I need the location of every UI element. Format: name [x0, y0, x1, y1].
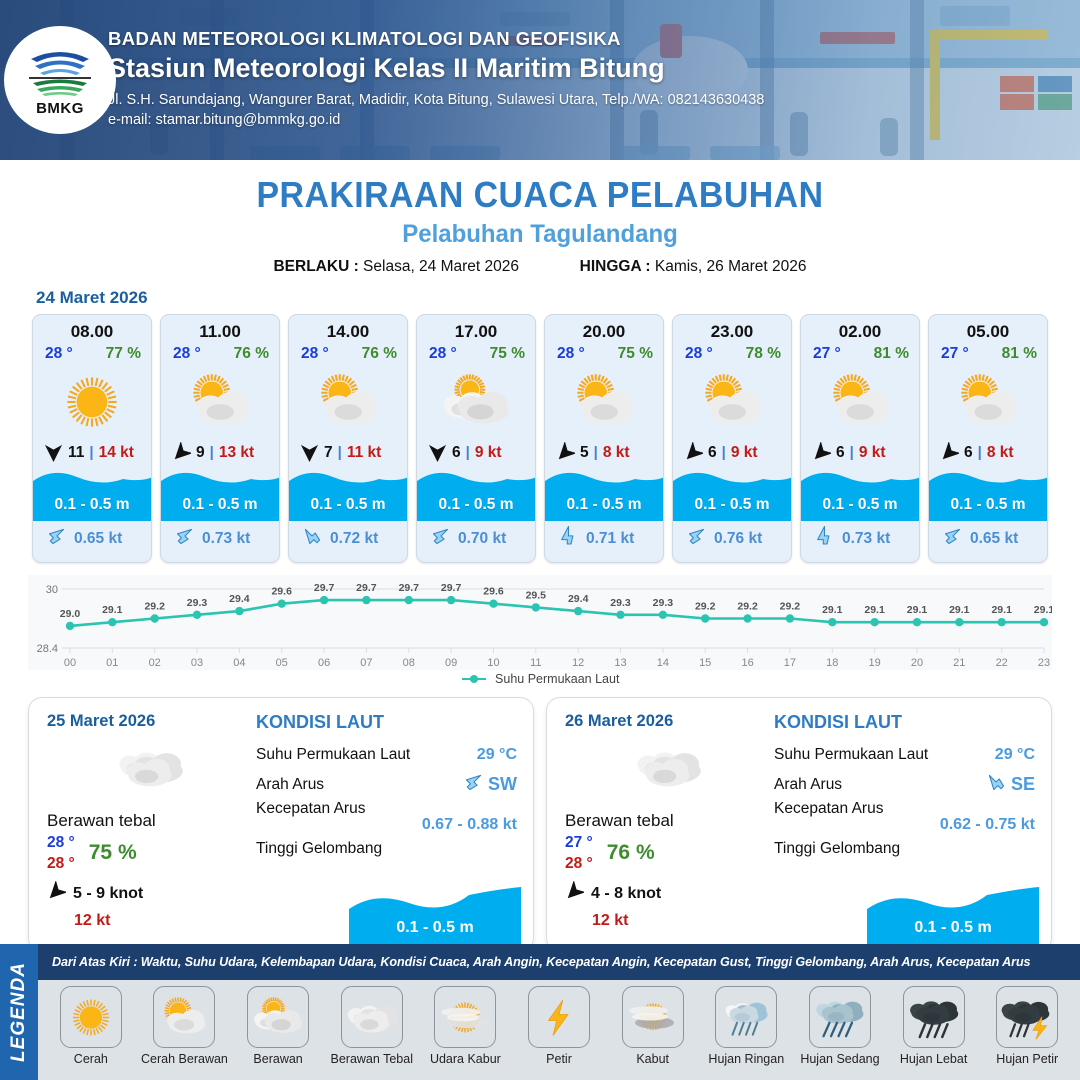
- chart-legend-swatch: [461, 673, 487, 687]
- legend-icon-box: [341, 986, 403, 1048]
- sst-row: Suhu Permukaan Laut 29 °C: [774, 740, 1035, 770]
- wave-height-band: 0.1 - 0.5 m: [33, 465, 151, 521]
- wind-direction-arrow-ne: [565, 881, 584, 902]
- legend-icon-box: [153, 986, 215, 1048]
- wave-height-band: 0.1 - 0.5 m: [289, 465, 407, 521]
- wind-speed: 6: [708, 444, 717, 462]
- wave-height-band: 0.1 - 0.5 m: [545, 465, 663, 521]
- wind-speed: 7: [324, 444, 333, 462]
- svg-text:00: 00: [64, 657, 76, 669]
- bmkg-logo-mark: [23, 43, 97, 99]
- legend-icon-box: [247, 986, 309, 1048]
- sst-label: Suhu Permukaan Laut: [774, 746, 928, 764]
- air-temperature: 28 °: [45, 345, 73, 363]
- legend-icon-box: [903, 986, 965, 1048]
- wind-separator: |: [978, 444, 982, 461]
- humidity: 75 %: [618, 345, 653, 363]
- svg-text:29.6: 29.6: [483, 586, 504, 598]
- humidity: 76 %: [234, 345, 269, 363]
- weather-condition-icon: [289, 364, 407, 440]
- current-dir-value-group: SW: [462, 771, 517, 799]
- wind-separator: |: [850, 444, 854, 461]
- wind-speed: 5: [580, 444, 589, 462]
- forecast-card: 02.00 27 ° 81 % 6 | 9 kt 0.1 - 0.5 m: [800, 314, 920, 563]
- current-row: 0.73 kt: [161, 521, 279, 562]
- svg-text:29.4: 29.4: [568, 593, 589, 605]
- panel-humidity: 75 %: [89, 841, 137, 865]
- panel-weather-icon: [47, 737, 252, 799]
- legend-body: Dari Atas Kiri : Waktu, Suhu Udara, Kele…: [38, 944, 1080, 1080]
- panel-wind-direction: [565, 881, 584, 907]
- forecast-time: 14.00: [289, 315, 407, 342]
- current-row: 0.71 kt: [545, 521, 663, 562]
- sea-condition-title: KONDISI LAUT: [256, 712, 517, 733]
- legend-item-label: Petir: [546, 1052, 572, 1066]
- air-temperature: 28 °: [685, 345, 713, 363]
- current-direction: [173, 525, 196, 553]
- wind-speed: 6: [452, 444, 461, 462]
- svg-text:29.7: 29.7: [399, 582, 420, 594]
- chart-legend: Suhu Permukaan Laut: [0, 672, 1080, 687]
- legend-strip: LEGENDA Dari Atas Kiri : Waktu, Suhu Uda…: [0, 944, 1080, 1080]
- svg-text:06: 06: [318, 657, 330, 669]
- svg-text:28.4: 28.4: [37, 643, 58, 655]
- panel-wind-range: 4 - 8 knot: [591, 885, 661, 903]
- svg-text:15: 15: [699, 657, 711, 669]
- wind-direction-arrow-down: [44, 442, 63, 463]
- wind-row: 6 | 9 kt: [801, 440, 919, 465]
- panel-temp-max: 28 °: [565, 855, 593, 873]
- weather-icon-berawan: [439, 370, 513, 434]
- svg-text:29.4: 29.4: [229, 593, 250, 605]
- panel-gust: 12 kt: [74, 912, 252, 930]
- weather-icon-cerah-berawan: [311, 370, 385, 434]
- wind-direction-arrow-ne: [940, 442, 959, 463]
- svg-text:10: 10: [487, 657, 499, 669]
- station-address: Jl. S.H. Sarundajang, Wangurer Barat, Ma…: [108, 92, 764, 108]
- svg-text:29.2: 29.2: [144, 601, 165, 613]
- legend-icon-box: [622, 986, 684, 1048]
- weather-condition-icon: [33, 364, 151, 440]
- current-direction-arrow-sw: [173, 525, 196, 548]
- station-email: e-mail: stamar.bitung@bmmkg.go.id: [108, 112, 764, 128]
- bmkg-logo-text: BMKG: [36, 100, 84, 117]
- svg-text:29.1: 29.1: [991, 604, 1012, 616]
- current-speed-value: 0.67 - 0.88 kt: [256, 816, 517, 834]
- forecast-temp-humidity: 28 ° 75 %: [545, 342, 663, 363]
- current-speed-row: Kecepatan Arus 0.67 - 0.88 kt: [256, 800, 517, 834]
- panel-wave-value: 0.1 - 0.5 m: [349, 919, 521, 937]
- current-row: 0.76 kt: [673, 521, 791, 562]
- legend-icon-box: [715, 986, 777, 1048]
- air-temperature: 27 °: [813, 345, 841, 363]
- svg-text:29.2: 29.2: [695, 601, 716, 613]
- weather-icon-hujan-sedang: [813, 994, 867, 1041]
- wind-direction: [811, 442, 831, 463]
- svg-text:29.0: 29.0: [60, 608, 81, 620]
- current-direction: [429, 525, 452, 553]
- legend-icon-box: [528, 986, 590, 1048]
- weather-icon-petir: [532, 994, 586, 1041]
- panel-temps: 27 ° 28 ° 76 %: [565, 834, 770, 873]
- weather-icon-cerah-berawan: [823, 370, 897, 434]
- weather-condition-icon: [417, 364, 535, 440]
- svg-text:09: 09: [445, 657, 457, 669]
- current-direction-arrow-se: [985, 771, 1008, 794]
- forecast-temp-humidity: 27 ° 81 %: [929, 342, 1047, 363]
- wind-direction: [939, 442, 959, 463]
- forecast-time: 17.00: [417, 315, 535, 342]
- svg-text:17: 17: [784, 657, 796, 669]
- wave-height-band: 0.1 - 0.5 m: [673, 465, 791, 521]
- svg-text:02: 02: [149, 657, 161, 669]
- wind-gust: 9 kt: [731, 444, 758, 462]
- svg-text:29.1: 29.1: [864, 604, 885, 616]
- station-name: Stasiun Meteorologi Kelas II Maritim Bit…: [108, 53, 764, 84]
- wind-separator: |: [722, 444, 726, 461]
- humidity: 76 %: [362, 345, 397, 363]
- current-direction: [685, 525, 708, 553]
- current-direction-arrow-se: [301, 525, 324, 548]
- wind-gust: 13 kt: [219, 444, 254, 462]
- legend-item: Berawan: [231, 986, 325, 1066]
- forecast-card: 11.00 28 ° 76 % 9 | 13 kt 0.1 - 0.5 m: [160, 314, 280, 563]
- weather-icon-berawan-tebal: [116, 738, 184, 797]
- wave-height-value: 0.1 - 0.5 m: [929, 496, 1047, 514]
- wind-gust: 8 kt: [987, 444, 1014, 462]
- current-speed: 0.65 kt: [970, 530, 1018, 548]
- legend-items-row: Cerah Cerah Berawan Berawan Berawan: [38, 980, 1080, 1066]
- current-speed-row: Kecepatan Arus 0.62 - 0.75 kt: [774, 800, 1035, 834]
- legend-item: Petir: [512, 986, 606, 1066]
- current-row: 0.65 kt: [929, 521, 1047, 562]
- legend-item: Hujan Petir: [980, 986, 1074, 1066]
- wave-height-value: 0.1 - 0.5 m: [417, 496, 535, 514]
- legend-item-label: Cerah Berawan: [141, 1052, 228, 1066]
- wave-height-band: 0.1 - 0.5 m: [929, 465, 1047, 521]
- current-direction-arrow-down: [557, 525, 580, 548]
- wave-height-band: 0.1 - 0.5 m: [417, 465, 535, 521]
- wave-height-value: 0.1 - 0.5 m: [673, 496, 791, 514]
- forecast-temp-humidity: 28 ° 78 %: [673, 342, 791, 363]
- wind-speed: 6: [964, 444, 973, 462]
- humidity: 77 %: [106, 345, 141, 363]
- sst-row: Suhu Permukaan Laut 29 °C: [256, 740, 517, 770]
- forecast-card: 23.00 28 ° 78 % 6 | 9 kt 0.1 - 0.5 m: [672, 314, 792, 563]
- daily-summary-panels: 25 Maret 2026 Berawan tebal 28 ° 28 ° 75…: [0, 687, 1080, 952]
- legend-item: Kabut: [606, 986, 700, 1066]
- current-dir-label: Arah Arus: [256, 776, 324, 794]
- panel-wave-box: 0.1 - 0.5 m: [867, 885, 1039, 945]
- svg-text:03: 03: [191, 657, 203, 669]
- legend-icon-box: [996, 986, 1058, 1048]
- current-direction-arrow-down: [813, 525, 836, 548]
- current-speed: 0.65 kt: [74, 530, 122, 548]
- wind-gust: 8 kt: [603, 444, 630, 462]
- page-subtitle: Pelabuhan Tagulandang: [22, 220, 1059, 249]
- wind-row: 9 | 13 kt: [161, 440, 279, 465]
- current-speed: 0.73 kt: [842, 530, 890, 548]
- wind-direction: [171, 442, 191, 463]
- legend-band: LEGENDA: [0, 944, 38, 1080]
- current-direction: [557, 525, 580, 553]
- weather-condition-icon: [545, 364, 663, 440]
- wind-direction: [555, 442, 575, 463]
- weather-condition-icon: [801, 364, 919, 440]
- svg-text:29.1: 29.1: [822, 604, 843, 616]
- sst-label: Suhu Permukaan Laut: [256, 746, 410, 764]
- weather-icon-kabut: [626, 994, 680, 1041]
- forecast-temp-humidity: 28 ° 76 %: [289, 342, 407, 363]
- weather-icon-berawan-tebal: [345, 994, 399, 1041]
- svg-text:29.2: 29.2: [737, 601, 758, 613]
- wind-row: 7 | 11 kt: [289, 440, 407, 465]
- legend-item-label: Kabut: [636, 1052, 669, 1066]
- wave-height-value: 0.1 - 0.5 m: [33, 496, 151, 514]
- bmkg-logo: BMKG: [4, 26, 116, 134]
- svg-text:29.7: 29.7: [314, 582, 335, 594]
- wind-separator: |: [594, 444, 598, 461]
- current-speed-value: 0.62 - 0.75 kt: [774, 816, 1035, 834]
- panel-current-arrow: [985, 771, 1008, 799]
- wind-row: 5 | 8 kt: [545, 440, 663, 465]
- legend-item: Hujan Lebat: [887, 986, 981, 1066]
- wind-speed: 6: [836, 444, 845, 462]
- current-dir-label: Arah Arus: [774, 776, 842, 794]
- wind-separator: |: [338, 444, 342, 461]
- forecast-card: 08.00 28 ° 77 % 11 | 14 kt 0.1 - 0.5 m 0: [32, 314, 152, 563]
- daily-summary-panel: 26 Maret 2026 Berawan tebal 27 ° 28 ° 76…: [546, 697, 1052, 952]
- panel-condition: Berawan tebal: [47, 811, 252, 831]
- panel-temp-min: 28 °: [47, 834, 75, 852]
- legend-caption: Dari Atas Kiri : Waktu, Suhu Udara, Kele…: [38, 944, 1080, 980]
- svg-text:04: 04: [233, 657, 245, 669]
- svg-text:29.6: 29.6: [271, 586, 292, 598]
- current-direction-arrow-sw: [429, 525, 452, 548]
- panel-temp-max: 28 °: [47, 855, 75, 873]
- wave-height-label: Tinggi Gelombang: [774, 840, 1035, 858]
- panel-right: KONDISI LAUT Suhu Permukaan Laut 29 °C A…: [252, 712, 517, 939]
- humidity: 78 %: [746, 345, 781, 363]
- weather-icon-cerah-berawan: [157, 994, 211, 1041]
- forecast-date-label: 24 Maret 2026: [36, 288, 1080, 308]
- wave-height-value: 0.1 - 0.5 m: [161, 496, 279, 514]
- wind-separator: |: [210, 444, 214, 461]
- legend-item-label: Berawan Tebal: [331, 1052, 413, 1066]
- svg-text:05: 05: [276, 657, 288, 669]
- weather-condition-icon: [161, 364, 279, 440]
- wind-gust: 9 kt: [859, 444, 886, 462]
- current-direction: [813, 525, 836, 553]
- legend-item: Hujan Ringan: [699, 986, 793, 1066]
- svg-text:29.2: 29.2: [780, 601, 801, 613]
- wind-gust: 9 kt: [475, 444, 502, 462]
- valid-from-label: BERLAKU :: [273, 258, 358, 275]
- panel-temp-min: 27 °: [565, 834, 593, 852]
- legend-item: Cerah: [44, 986, 138, 1066]
- wave-height-value: 0.1 - 0.5 m: [545, 496, 663, 514]
- current-dir-row: Arah Arus SE: [774, 770, 1035, 800]
- svg-text:29.3: 29.3: [187, 597, 208, 609]
- weather-icon-hujan-petir: [1000, 994, 1054, 1041]
- header-text-block: BADAN METEOROLOGI KLIMATOLOGI DAN GEOFIS…: [108, 28, 764, 128]
- sea-condition-title: KONDISI LAUT: [774, 712, 1035, 733]
- sst-value: 29 °C: [995, 746, 1035, 764]
- current-direction-arrow-sw: [45, 525, 68, 548]
- wind-speed: 11: [68, 444, 84, 462]
- wind-row: 6 | 8 kt: [929, 440, 1047, 465]
- panel-weather-icon: [565, 737, 770, 799]
- legend-band-text: LEGENDA: [8, 962, 30, 1062]
- panel-wind: 4 - 8 knot: [565, 881, 770, 907]
- weather-icon-cerah-berawan: [183, 370, 257, 434]
- current-dir-value: SE: [1011, 774, 1035, 795]
- hourly-forecast-row: 08.00 28 ° 77 % 11 | 14 kt 0.1 - 0.5 m 0: [0, 314, 1080, 563]
- legend-item: Udara Kabur: [419, 986, 513, 1066]
- forecast-temp-humidity: 27 ° 81 %: [801, 342, 919, 363]
- validity-line: BERLAKU : Selasa, 24 Maret 2026 HINGGA :…: [0, 258, 1080, 276]
- wind-direction-arrow-ne: [556, 442, 575, 463]
- sst-chart: 3028.429.00029.10129.20229.30329.40429.6…: [28, 575, 1052, 670]
- current-direction: [941, 525, 964, 553]
- panel-current-arrow: [462, 771, 485, 799]
- forecast-time: 02.00: [801, 315, 919, 342]
- svg-text:29.1: 29.1: [907, 604, 928, 616]
- svg-text:29.7: 29.7: [441, 582, 462, 594]
- svg-text:08: 08: [403, 657, 415, 669]
- current-direction: [301, 525, 324, 553]
- wind-gust: 14 kt: [99, 444, 134, 462]
- svg-text:19: 19: [868, 657, 880, 669]
- svg-text:01: 01: [106, 657, 118, 669]
- page-title: PRAKIRAAN CUACA PELABUHAN: [32, 174, 1047, 216]
- legend-item-label: Udara Kabur: [430, 1052, 501, 1066]
- current-speed: 0.76 kt: [714, 530, 762, 548]
- title-block: PRAKIRAAN CUACA PELABUHAN Pelabuhan Tagu…: [0, 160, 1080, 276]
- svg-text:21: 21: [953, 657, 965, 669]
- forecast-time: 05.00: [929, 315, 1047, 342]
- svg-text:29.1: 29.1: [949, 604, 970, 616]
- wave-height-row: Tinggi Gelombang: [774, 840, 1035, 858]
- forecast-temp-humidity: 28 ° 76 %: [161, 342, 279, 363]
- legend-item-label: Berawan: [253, 1052, 302, 1066]
- forecast-temp-humidity: 28 ° 77 %: [33, 342, 151, 363]
- forecast-card: 05.00 27 ° 81 % 6 | 8 kt 0.1 - 0.5 m: [928, 314, 1048, 563]
- svg-text:12: 12: [572, 657, 584, 669]
- air-temperature: 28 °: [173, 345, 201, 363]
- svg-text:11: 11: [530, 657, 541, 669]
- weather-icon-cerah-berawan: [567, 370, 641, 434]
- legend-icon-box: [809, 986, 871, 1048]
- legend-item: Hujan Sedang: [793, 986, 887, 1066]
- svg-text:30: 30: [46, 584, 58, 596]
- svg-text:29.3: 29.3: [653, 597, 674, 609]
- valid-until-label: HINGGA :: [580, 258, 651, 275]
- wind-speed: 9: [196, 444, 205, 462]
- current-speed: 0.71 kt: [586, 530, 634, 548]
- weather-icon-hujan-lebat: [907, 994, 961, 1041]
- panel-date: 26 Maret 2026: [565, 712, 770, 731]
- panel-temps: 28 ° 28 ° 75 %: [47, 834, 252, 873]
- current-direction-arrow-sw: [685, 525, 708, 548]
- current-direction-arrow-sw: [462, 771, 485, 794]
- wind-separator: |: [466, 444, 470, 461]
- svg-text:13: 13: [614, 657, 626, 669]
- svg-text:18: 18: [826, 657, 838, 669]
- wind-direction-arrow-ne: [812, 442, 831, 463]
- agency-name: BADAN METEOROLOGI KLIMATOLOGI DAN GEOFIS…: [108, 28, 764, 50]
- svg-text:14: 14: [657, 657, 669, 669]
- weather-icon-berawan-tebal: [634, 738, 702, 797]
- current-speed: 0.73 kt: [202, 530, 250, 548]
- current-direction: [45, 525, 68, 553]
- weather-icon-cerah-berawan: [951, 370, 1025, 434]
- panel-wind-direction: [47, 881, 66, 907]
- weather-condition-icon: [673, 364, 791, 440]
- wave-height-value: 0.1 - 0.5 m: [801, 496, 919, 514]
- forecast-time: 11.00: [161, 315, 279, 342]
- weather-icon-cerah-berawan: [695, 370, 769, 434]
- panel-wind-range: 5 - 9 knot: [73, 885, 143, 903]
- wind-row: 11 | 14 kt: [33, 440, 151, 465]
- sst-chart-svg: 3028.429.00029.10129.20229.30329.40429.6…: [28, 575, 1052, 670]
- panel-gust: 12 kt: [592, 912, 770, 930]
- air-temperature: 28 °: [557, 345, 585, 363]
- svg-text:29.7: 29.7: [356, 582, 377, 594]
- air-temperature: 27 °: [941, 345, 969, 363]
- svg-text:29.1: 29.1: [102, 604, 123, 616]
- weather-icon-cerah: [55, 370, 129, 434]
- wave-height-row: Tinggi Gelombang: [256, 840, 517, 858]
- weather-condition-icon: [929, 364, 1047, 440]
- legend-item-label: Hujan Petir: [996, 1052, 1058, 1066]
- current-direction-arrow-sw: [941, 525, 964, 548]
- weather-icon-udara-kabur: [438, 994, 492, 1041]
- legend-item: Cerah Berawan: [138, 986, 232, 1066]
- legend-item-label: Cerah: [74, 1052, 108, 1066]
- wind-direction: [683, 442, 703, 463]
- current-dir-value: SW: [488, 774, 517, 795]
- forecast-card: 14.00 28 ° 76 % 7 | 11 kt 0.1 - 0.5 m: [288, 314, 408, 563]
- weather-icon-berawan: [251, 994, 305, 1041]
- panel-wave-value: 0.1 - 0.5 m: [867, 919, 1039, 937]
- forecast-time: 08.00: [33, 315, 151, 342]
- svg-text:29.5: 29.5: [526, 589, 547, 601]
- humidity: 81 %: [874, 345, 909, 363]
- daily-summary-panel: 25 Maret 2026 Berawan tebal 28 ° 28 ° 75…: [28, 697, 534, 952]
- forecast-card: 17.00 28 ° 75 % 6 | 9 kt 0.1 - 0.5 m: [416, 314, 536, 563]
- sst-value: 29 °C: [477, 746, 517, 764]
- wave-height-band: 0.1 - 0.5 m: [801, 465, 919, 521]
- panel-condition: Berawan tebal: [565, 811, 770, 831]
- forecast-temp-humidity: 28 ° 75 %: [417, 342, 535, 363]
- valid-from-value: Selasa, 24 Maret 2026: [363, 258, 519, 275]
- page-header: BMKG BADAN METEOROLOGI KLIMATOLOGI DAN G…: [0, 0, 1080, 160]
- wind-gust: 11 kt: [347, 444, 381, 462]
- svg-text:16: 16: [741, 657, 753, 669]
- weather-icon-hujan-ringan: [719, 994, 773, 1041]
- panel-wind: 5 - 9 knot: [47, 881, 252, 907]
- current-row: 0.65 kt: [33, 521, 151, 562]
- wave-height-band: 0.1 - 0.5 m: [161, 465, 279, 521]
- wind-direction: [427, 442, 447, 463]
- panel-wave-box: 0.1 - 0.5 m: [349, 885, 521, 945]
- legend-icon-box: [434, 986, 496, 1048]
- valid-until-value: Kamis, 26 Maret 2026: [655, 258, 807, 275]
- current-row: 0.72 kt: [289, 521, 407, 562]
- chart-legend-label: Suhu Permukaan Laut: [495, 672, 619, 686]
- panel-left: 25 Maret 2026 Berawan tebal 28 ° 28 ° 75…: [47, 712, 252, 939]
